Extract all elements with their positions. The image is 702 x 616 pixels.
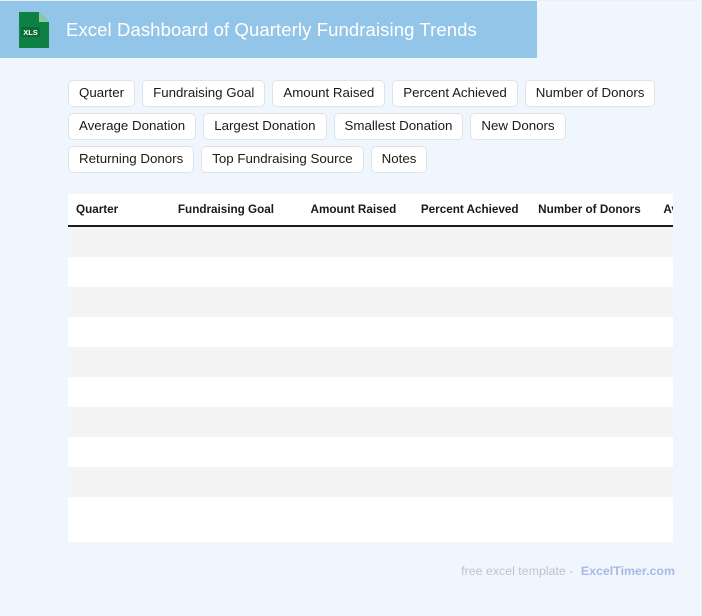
footer-lead-text: free excel template - [461, 564, 573, 578]
cell-fundraising-goal[interactable] [159, 287, 281, 317]
cell-amount-raised[interactable] [281, 467, 403, 497]
cell-fundraising-goal[interactable] [159, 407, 281, 437]
column-header-amount-raised[interactable]: Amount Raised [281, 194, 403, 226]
chip-largest-donation[interactable]: Largest Donation [203, 113, 326, 140]
data-table-container[interactable]: Quarter Fundraising Goal Amount Raised P… [68, 194, 673, 542]
cell-fundraising-goal[interactable] [159, 226, 281, 257]
cell-fundraising-goal[interactable] [159, 347, 281, 377]
cell-percent-achieved[interactable] [403, 257, 525, 287]
cell-amount-raised[interactable] [281, 317, 403, 347]
cell-fundraising-goal[interactable] [159, 467, 281, 497]
cell-amount-raised[interactable] [281, 226, 403, 257]
cell-percent-achieved[interactable] [403, 497, 525, 527]
chip-amount-raised[interactable]: Amount Raised [272, 80, 385, 107]
cell-percent-achieved[interactable] [403, 347, 525, 377]
cell-number-of-donors[interactable] [526, 497, 648, 527]
cell-amount-raised[interactable] [281, 347, 403, 377]
cell-quarter[interactable] [68, 226, 159, 257]
chip-top-fundraising-source[interactable]: Top Fundraising Source [201, 146, 363, 173]
cell-quarter[interactable] [68, 257, 159, 287]
column-header-percent-achieved[interactable]: Percent Achieved [403, 194, 525, 226]
table-row[interactable] [68, 467, 673, 497]
table-row[interactable] [68, 377, 673, 407]
footer-credit: free excel template - ExcelTimer.com [461, 564, 675, 578]
cell-percent-achieved[interactable] [403, 377, 525, 407]
table-header-row: Quarter Fundraising Goal Amount Raised P… [68, 194, 673, 226]
chip-returning-donors[interactable]: Returning Donors [68, 146, 194, 173]
cell-percent-achieved[interactable] [403, 467, 525, 497]
cell-amount-raised[interactable] [281, 377, 403, 407]
table-row[interactable] [68, 437, 673, 467]
cell-fundraising-goal[interactable] [159, 377, 281, 407]
data-table: Quarter Fundraising Goal Amount Raised P… [68, 194, 673, 527]
cell-percent-achieved[interactable] [403, 287, 525, 317]
cell-quarter[interactable] [68, 467, 159, 497]
cell-number-of-donors[interactable] [526, 257, 648, 287]
chip-fundraising-goal[interactable]: Fundraising Goal [142, 80, 265, 107]
table-row[interactable] [68, 407, 673, 437]
cell-fundraising-goal[interactable] [159, 497, 281, 527]
chip-quarter[interactable]: Quarter [68, 80, 135, 107]
column-header-quarter[interactable]: Quarter [68, 194, 159, 226]
table-body [68, 226, 673, 527]
chip-notes[interactable]: Notes [371, 146, 428, 173]
cell-fundraising-goal[interactable] [159, 317, 281, 347]
cell-quarter[interactable] [68, 317, 159, 347]
cell-fundraising-goal[interactable] [159, 437, 281, 467]
cell-percent-achieved[interactable] [403, 407, 525, 437]
cell-amount-raised[interactable] [281, 257, 403, 287]
page-title: Excel Dashboard of Quarterly Fundraising… [66, 19, 477, 41]
cell-number-of-donors[interactable] [526, 407, 648, 437]
cell-percent-achieved[interactable] [403, 226, 525, 257]
table-row[interactable] [68, 287, 673, 317]
cell-average-donation[interactable] [648, 257, 673, 287]
chip-number-of-donors[interactable]: Number of Donors [525, 80, 656, 107]
cell-amount-raised[interactable] [281, 287, 403, 317]
table-row[interactable] [68, 347, 673, 377]
cell-average-donation[interactable] [648, 317, 673, 347]
column-header-number-of-donors[interactable]: Number of Donors [526, 194, 648, 226]
chip-row-2: Average Donation Largest Donation Smalle… [68, 113, 696, 140]
cell-number-of-donors[interactable] [526, 437, 648, 467]
cell-number-of-donors[interactable] [526, 226, 648, 257]
cell-quarter[interactable] [68, 497, 159, 527]
chip-smallest-donation[interactable]: Smallest Donation [334, 113, 464, 140]
chip-row-1: Quarter Fundraising Goal Amount Raised P… [68, 80, 696, 107]
cell-amount-raised[interactable] [281, 407, 403, 437]
cell-average-donation[interactable] [648, 377, 673, 407]
cell-average-donation[interactable] [648, 287, 673, 317]
cell-number-of-donors[interactable] [526, 317, 648, 347]
cell-quarter[interactable] [68, 377, 159, 407]
cell-number-of-donors[interactable] [526, 347, 648, 377]
cell-average-donation[interactable] [648, 407, 673, 437]
cell-number-of-donors[interactable] [526, 377, 648, 407]
chip-row-3: Returning Donors Top Fundraising Source … [68, 146, 696, 173]
cell-amount-raised[interactable] [281, 497, 403, 527]
cell-quarter[interactable] [68, 407, 159, 437]
app-header: XLS Excel Dashboard of Quarterly Fundrai… [0, 1, 537, 58]
cell-quarter[interactable] [68, 287, 159, 317]
xls-file-icon: XLS [18, 11, 50, 49]
table-row[interactable] [68, 257, 673, 287]
field-chip-list: Quarter Fundraising Goal Amount Raised P… [68, 80, 696, 179]
cell-percent-achieved[interactable] [403, 437, 525, 467]
table-row[interactable] [68, 226, 673, 257]
cell-quarter[interactable] [68, 437, 159, 467]
cell-average-donation[interactable] [648, 497, 673, 527]
cell-amount-raised[interactable] [281, 437, 403, 467]
column-header-average-donation[interactable]: Average Donation [648, 194, 673, 226]
cell-number-of-donors[interactable] [526, 287, 648, 317]
cell-quarter[interactable] [68, 347, 159, 377]
cell-average-donation[interactable] [648, 226, 673, 257]
table-row[interactable] [68, 317, 673, 347]
cell-number-of-donors[interactable] [526, 467, 648, 497]
chip-average-donation[interactable]: Average Donation [68, 113, 196, 140]
cell-percent-achieved[interactable] [403, 317, 525, 347]
chip-new-donors[interactable]: New Donors [470, 113, 565, 140]
column-header-fundraising-goal[interactable]: Fundraising Goal [159, 194, 281, 226]
cell-average-donation[interactable] [648, 347, 673, 377]
chip-percent-achieved[interactable]: Percent Achieved [392, 80, 518, 107]
cell-average-donation[interactable] [648, 467, 673, 497]
cell-average-donation[interactable] [648, 437, 673, 467]
footer-brand-link[interactable]: ExcelTimer.com [581, 564, 675, 578]
svg-text:XLS: XLS [23, 28, 38, 37]
cell-fundraising-goal[interactable] [159, 257, 281, 287]
table-row[interactable] [68, 497, 673, 527]
